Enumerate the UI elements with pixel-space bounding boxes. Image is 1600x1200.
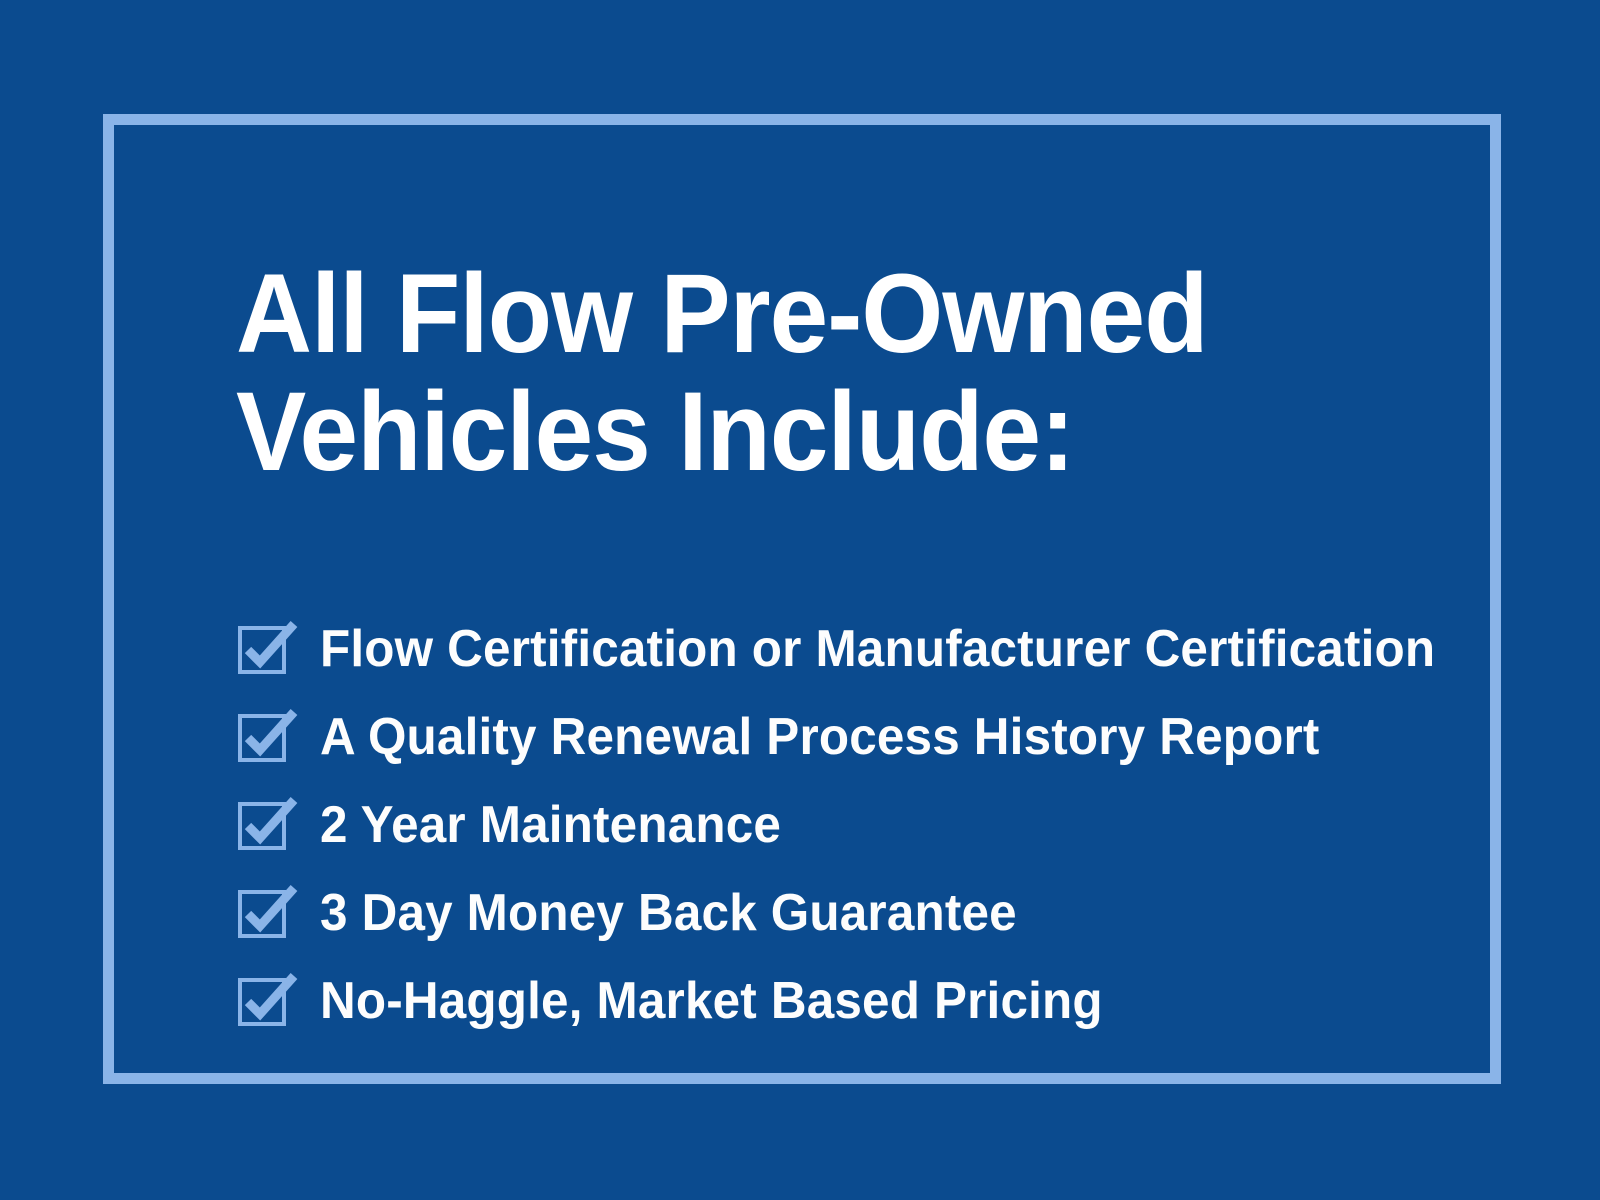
- list-item: No-Haggle, Market Based Pricing: [236, 957, 1466, 1045]
- page-title-line-1: All Flow Pre-Owned: [236, 255, 1392, 373]
- list-item: Flow Certification or Manufacturer Certi…: [236, 605, 1466, 693]
- checkbox-checked-icon: [236, 972, 298, 1030]
- checkbox-checked-icon: [236, 884, 298, 942]
- list-item-label: No-Haggle, Market Based Pricing: [320, 973, 1103, 1029]
- list-item: A Quality Renewal Process History Report: [236, 693, 1466, 781]
- page-title: All Flow Pre-Owned Vehicles Include:: [236, 255, 1392, 491]
- pre-owned-benefits-poster: All Flow Pre-Owned Vehicles Include: Flo…: [0, 0, 1600, 1200]
- list-item-label: 2 Year Maintenance: [320, 797, 781, 853]
- page-title-line-2: Vehicles Include:: [236, 373, 1392, 491]
- list-item-label: A Quality Renewal Process History Report: [320, 709, 1320, 765]
- benefits-checklist: Flow Certification or Manufacturer Certi…: [236, 605, 1466, 1045]
- poster-content: All Flow Pre-Owned Vehicles Include: Flo…: [236, 180, 1466, 1061]
- checkbox-checked-icon: [236, 620, 298, 678]
- list-item-label: Flow Certification or Manufacturer Certi…: [320, 621, 1435, 677]
- checkbox-checked-icon: [236, 708, 298, 766]
- list-item: 2 Year Maintenance: [236, 781, 1466, 869]
- checkbox-checked-icon: [236, 796, 298, 854]
- list-item: 3 Day Money Back Guarantee: [236, 869, 1466, 957]
- list-item-label: 3 Day Money Back Guarantee: [320, 885, 1017, 941]
